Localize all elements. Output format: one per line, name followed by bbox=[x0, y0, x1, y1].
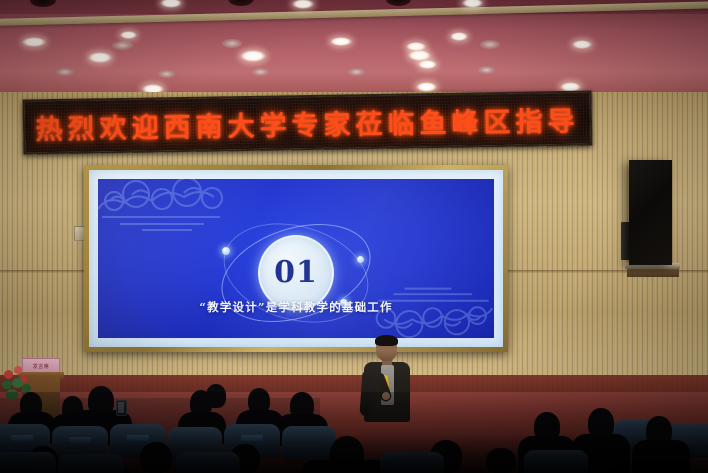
ceiling-light-icon bbox=[240, 50, 266, 62]
audience-shoulders bbox=[632, 440, 690, 473]
presenter-hair bbox=[375, 335, 398, 346]
ceiling-light-icon bbox=[56, 68, 74, 76]
seat-number-tag bbox=[69, 437, 91, 443]
projection-screen-frame: 01 “教学设计”是学科教学的基础工作 bbox=[84, 165, 508, 352]
orbit-dot-icon bbox=[357, 256, 364, 263]
ceiling-light-icon bbox=[222, 39, 242, 48]
ceiling-light-icon bbox=[252, 68, 269, 76]
ceiling-light-icon bbox=[450, 32, 468, 41]
projection-screen-surface: 01 “教学设计”是学科教学的基础工作 bbox=[89, 170, 503, 347]
ceiling-light-icon bbox=[418, 60, 437, 69]
smartphone-screen bbox=[118, 402, 124, 413]
auditorium-seat bbox=[58, 454, 124, 473]
presenter-hand bbox=[382, 392, 390, 400]
smartphone-icon bbox=[116, 400, 127, 416]
auditorium-seat bbox=[524, 450, 588, 473]
section-number-text: 01 bbox=[274, 258, 318, 288]
audience-head bbox=[486, 448, 516, 473]
orbit-dot-icon bbox=[222, 247, 230, 255]
ceiling bbox=[0, 0, 708, 96]
presentation-slide: 01 “教学设计”是学科教学的基础工作 bbox=[98, 179, 494, 338]
audience-head bbox=[206, 384, 226, 408]
ceiling-light-icon bbox=[330, 37, 352, 46]
ceiling-light-icon bbox=[416, 82, 437, 92]
ceiling-light-icon bbox=[112, 41, 133, 50]
flower-icon bbox=[14, 366, 22, 374]
foliage-icon bbox=[6, 389, 18, 400]
speaker-shelf bbox=[627, 268, 679, 277]
presenter-figure bbox=[355, 336, 419, 422]
foliage-icon bbox=[2, 380, 12, 389]
ceiling-light-icon bbox=[120, 31, 137, 39]
slide-subtitle: “教学设计”是学科教学的基础工作 bbox=[98, 299, 494, 315]
ceiling-light-icon bbox=[348, 68, 365, 76]
ceiling-light-icon bbox=[480, 40, 500, 49]
ceiling-light-icon bbox=[478, 66, 495, 74]
flower-icon bbox=[4, 370, 13, 379]
auditorium-seat bbox=[0, 452, 56, 473]
ceiling-light-icon bbox=[572, 40, 592, 49]
seat-number-tag bbox=[127, 435, 149, 441]
seat-number-tag bbox=[241, 435, 263, 441]
auditorium-scene: 热烈欢迎西南大学专家莅临鱼峰区指导 bbox=[0, 0, 708, 473]
ceiling-light-icon bbox=[88, 52, 112, 63]
led-banner-panel: 热烈欢迎西南大学专家莅临鱼峰区指导 bbox=[23, 91, 593, 155]
auditorium-seat bbox=[282, 426, 336, 460]
wall-speaker-icon bbox=[629, 160, 672, 265]
seat-number-tag bbox=[11, 435, 33, 441]
auditorium-seat bbox=[380, 452, 444, 473]
auditorium-seat bbox=[176, 452, 240, 473]
ceiling-light-icon bbox=[158, 70, 175, 78]
audience-head bbox=[140, 442, 172, 473]
ceiling-light-icon bbox=[22, 37, 46, 47]
